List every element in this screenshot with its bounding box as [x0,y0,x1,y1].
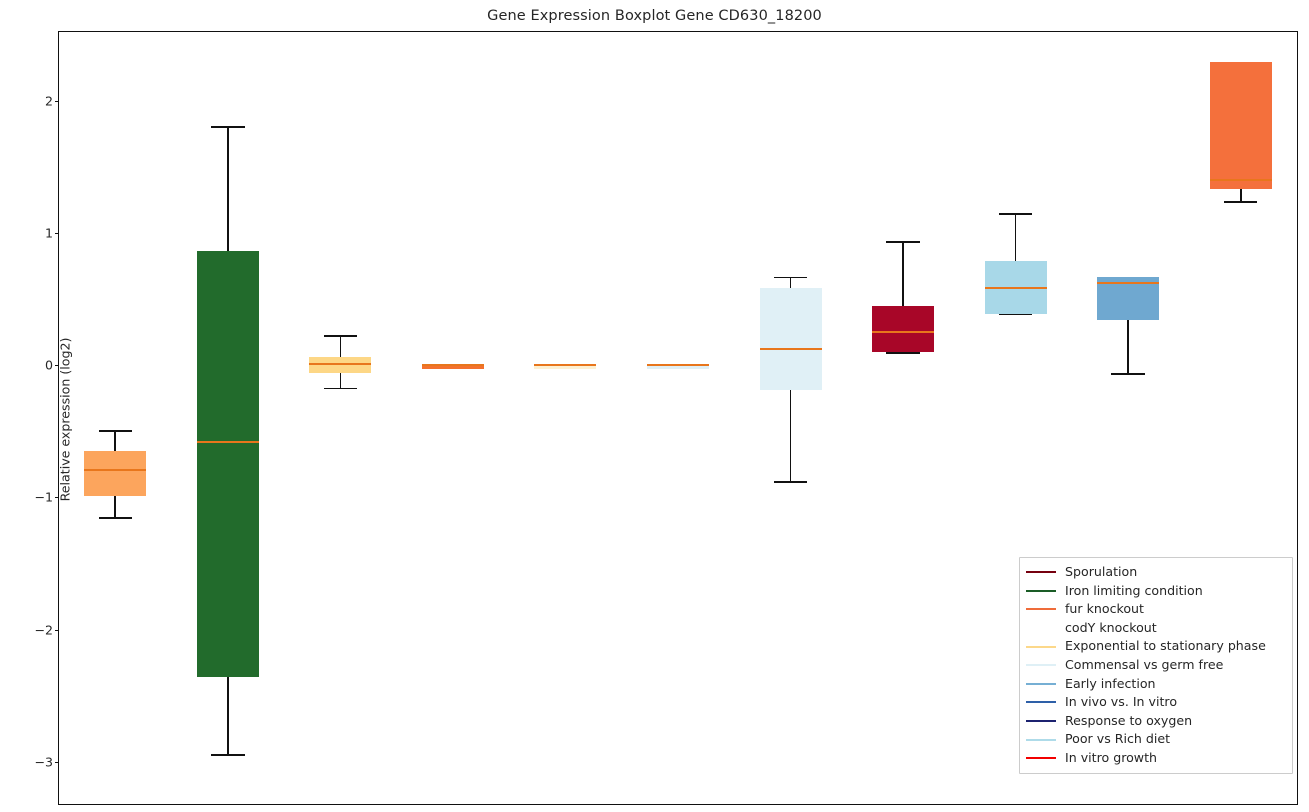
whisker-upper [227,126,229,252]
whisker-upper [1015,213,1017,261]
legend-item[interactable]: In vitro growth [1026,749,1284,768]
y-tick-label: −2 [27,622,53,637]
legend-label: Sporulation [1065,566,1137,579]
legend-item[interactable]: Exponential to stationary phase [1026,637,1284,656]
legend-color-swatch [1026,646,1056,648]
whisker-cap-lower [99,517,132,519]
whisker-cap-lower [1111,373,1144,375]
whisker-cap-upper [774,277,807,279]
median-line [84,469,146,471]
legend: SporulationIron limiting conditionfur kn… [1019,557,1293,774]
whisker-cap-lower [324,388,357,390]
box-rect [197,251,259,677]
whisker-cap-lower [999,314,1032,316]
y-tick-label: 0 [27,358,53,373]
y-tick-label: 2 [27,93,53,108]
legend-item[interactable]: Iron limiting condition [1026,582,1284,601]
median-line [985,287,1047,289]
boxplot-box [84,32,146,804]
legend-label: Early infection [1065,678,1156,691]
legend-label: fur knockout [1065,603,1144,616]
whisker-lower [1240,189,1242,201]
boxplot-box [422,32,484,804]
y-tick-label: 1 [27,225,53,240]
legend-label: Exponential to stationary phase [1065,640,1266,653]
whisker-upper [114,430,116,451]
legend-color-swatch [1026,683,1056,685]
y-tick-label: −3 [27,754,53,769]
whisker-lower [1127,320,1129,373]
legend-item[interactable]: fur knockout [1026,600,1284,619]
legend-label: codY knockout [1065,622,1157,635]
legend-color-swatch [1026,701,1056,703]
legend-item[interactable]: Early infection [1026,675,1284,694]
median-line [1210,179,1272,181]
legend-color-swatch [1026,757,1056,759]
legend-color-swatch [1026,739,1056,741]
whisker-cap-upper [324,335,357,337]
whisker-lower [340,373,342,388]
legend-label: In vitro growth [1065,752,1157,765]
legend-color-swatch [1026,664,1056,666]
legend-label: Poor vs Rich diet [1065,733,1170,746]
median-line [760,348,822,350]
legend-color-swatch [1026,608,1056,610]
whisker-cap-upper [999,213,1032,215]
y-tick-label: −1 [27,490,53,505]
legend-label: Response to oxygen [1065,715,1192,728]
whisker-cap-upper [99,430,132,432]
legend-item[interactable]: Poor vs Rich diet [1026,730,1284,749]
median-line [422,364,484,366]
boxplot-box [534,32,596,804]
whisker-cap-lower [886,352,919,354]
boxplot-box [309,32,371,804]
legend-label: In vivo vs. In vitro [1065,696,1177,709]
boxplot-box [760,32,822,804]
whisker-lower [790,390,792,481]
whisker-upper [902,241,904,306]
median-line [534,364,596,366]
box-rect [872,306,934,352]
legend-color-swatch [1026,627,1056,629]
whisker-lower [114,496,116,517]
boxplot-box [647,32,709,804]
box-rect [1210,62,1272,189]
legend-color-swatch [1026,571,1056,573]
legend-item[interactable]: Response to oxygen [1026,712,1284,731]
whisker-cap-upper [886,241,919,243]
median-line [309,363,371,365]
legend-color-swatch [1026,590,1056,592]
whisker-cap-lower [1224,201,1257,203]
boxplot-box [872,32,934,804]
legend-item[interactable]: Sporulation [1026,563,1284,582]
chart-root: Gene Expression Boxplot Gene CD630_18200… [0,0,1309,812]
legend-label: Iron limiting condition [1065,585,1203,598]
whisker-upper [340,335,342,357]
boxplot-box [197,32,259,804]
box-rect [309,357,371,373]
page-title: Gene Expression Boxplot Gene CD630_18200 [0,8,1309,24]
legend-label: Commensal vs germ free [1065,659,1223,672]
legend-item[interactable]: Commensal vs germ free [1026,656,1284,675]
whisker-lower [227,677,229,754]
box-rect [760,288,822,390]
median-line [197,441,259,443]
median-line [647,364,709,366]
whisker-cap-lower [211,754,244,756]
legend-item[interactable]: In vivo vs. In vitro [1026,693,1284,712]
median-line [872,331,934,333]
legend-item[interactable]: codY knockout [1026,619,1284,638]
whisker-cap-lower [774,481,807,483]
whisker-cap-upper [211,126,244,128]
box-rect [84,451,146,496]
legend-color-swatch [1026,720,1056,722]
median-line [1097,282,1159,284]
